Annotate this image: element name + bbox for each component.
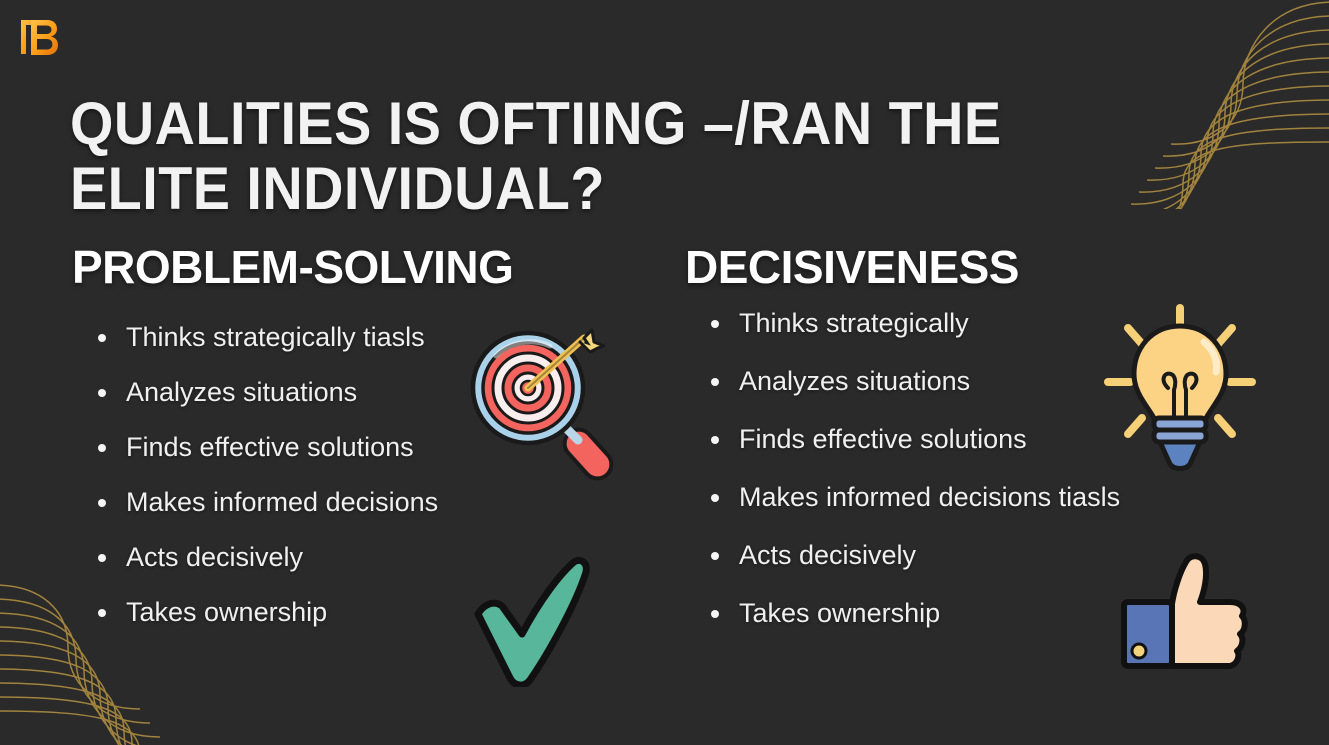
list-item: Finds effective solutions	[685, 422, 1129, 458]
list-item: Takes ownership	[685, 596, 1129, 632]
target-magnifier-icon	[466, 326, 626, 481]
slide-title: QUALITIES IS OFTIING –/RAN THE ELITE IND…	[70, 92, 1019, 222]
list-item: Analyzes situations	[685, 364, 1129, 400]
corner-swirl-top-right-icon	[1123, 0, 1329, 209]
list-item: Finds effective solutions	[72, 430, 496, 466]
checkmark-icon	[470, 552, 595, 687]
column-heading-problem-solving: PROBLEM-SOLVING	[72, 240, 652, 294]
list-item: Makes informed decisions	[72, 485, 496, 521]
list-item: Thinks strategically	[685, 306, 1129, 342]
list-item: Analyzes situations	[72, 375, 496, 411]
list-item: Takes ownership	[72, 595, 496, 631]
brand-logo-icon[interactable]	[16, 14, 62, 60]
list-item: Acts decisively	[72, 540, 496, 576]
lightbulb-icon	[1098, 302, 1263, 477]
list-item: Thinks strategically tiasls	[72, 320, 496, 356]
slide-canvas: QUALITIES IS OFTIING –/RAN THE ELITE IND…	[0, 0, 1329, 745]
column-heading-decisiveness: DECISIVENESS	[685, 240, 1265, 294]
thumbs-up-icon	[1110, 548, 1260, 683]
list-item: Acts decisively	[685, 538, 1129, 574]
list-item: Makes informed decisions tiasls	[685, 480, 1129, 516]
